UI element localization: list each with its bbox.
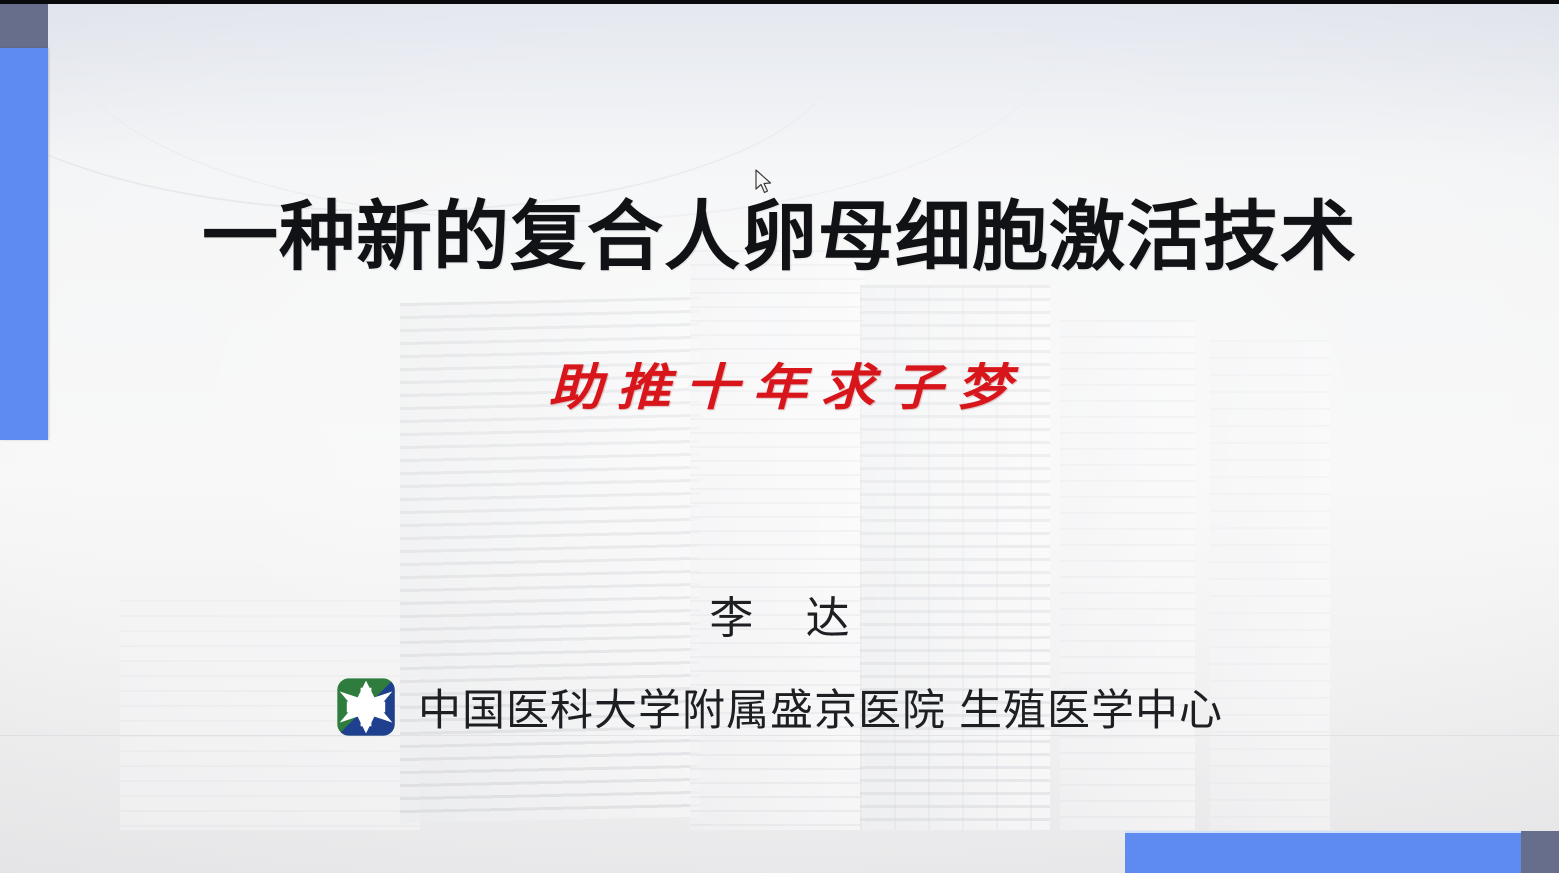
- presentation-slide: 一种新的复合人卵母细胞激活技术 助推十年求子梦 李 达 中国医科大学附属盛京医院…: [0, 0, 1559, 873]
- presenter-name: 李 达: [0, 582, 1559, 646]
- shengjing-hospital-logo-icon: [336, 677, 396, 737]
- bottom-right-accent-bar-cap: [1521, 831, 1559, 873]
- background-building-tower-2: [690, 250, 865, 830]
- bottom-right-accent-bar: [1125, 831, 1521, 873]
- affiliation-row: 中国医科大学附属盛京医院 生殖医学中心: [0, 676, 1559, 738]
- left-accent-bar-cap: [0, 4, 48, 48]
- slide-subtitle: 助推十年求子梦: [0, 360, 1559, 415]
- video-top-letterbox: [0, 0, 1559, 4]
- affiliation-label: 中国医科大学附属盛京医院 生殖医学中心: [418, 676, 1223, 738]
- slide-title: 一种新的复合人卵母细胞激活技术: [0, 198, 1559, 277]
